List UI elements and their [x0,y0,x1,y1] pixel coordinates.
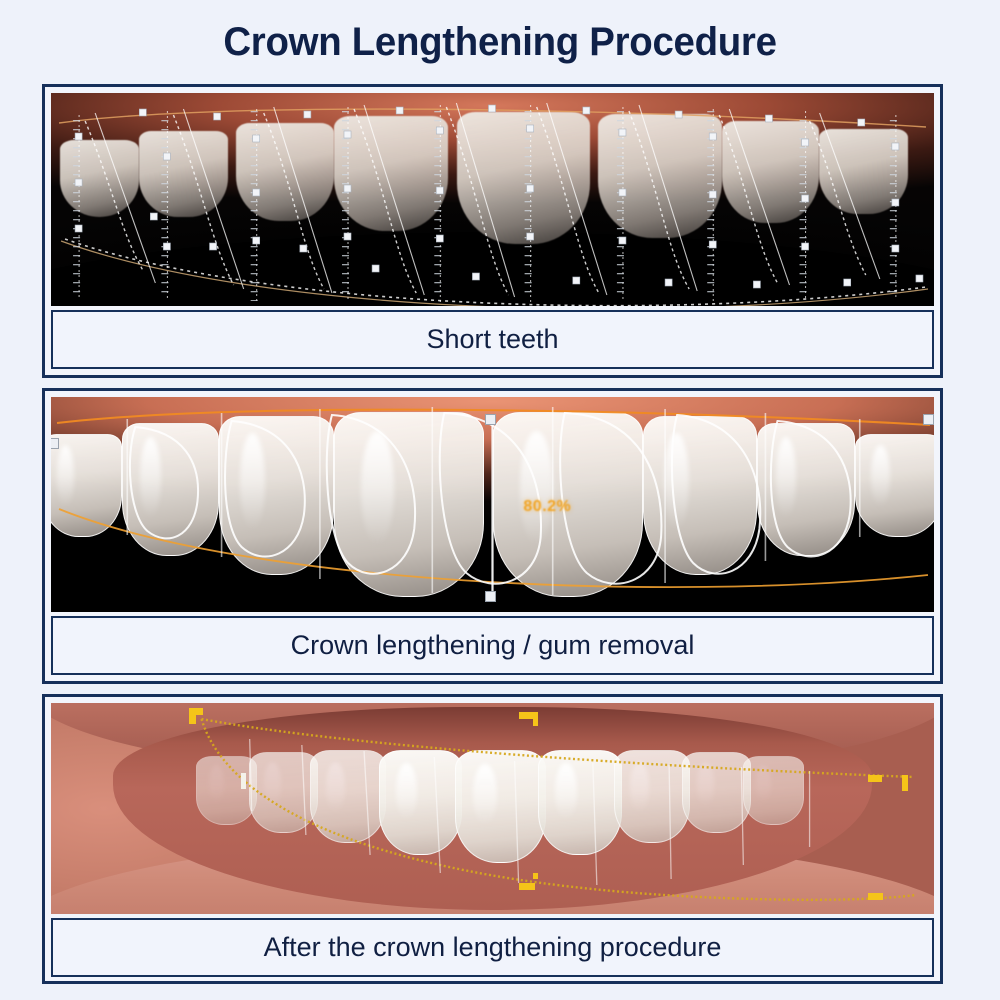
tooth [379,750,463,855]
tooth [598,114,722,238]
corner-marker-bottom-right[interactable] [868,893,883,900]
tooth [643,416,758,575]
tooth [334,412,484,597]
tooth-highlight-marker [241,773,246,789]
corner-marker-top-left-stem[interactable] [189,708,196,724]
tooth [455,750,546,863]
tooth [219,416,334,575]
tooth [310,750,386,843]
page-title: Crown Lengthening Procedure [20,20,980,65]
tooth [457,112,589,244]
tooth [236,123,333,221]
tooth [139,131,227,216]
panel-caption: After the crown lengthening procedure [51,918,934,977]
tooth [196,756,257,825]
midline-marker-bottom-stem[interactable] [533,873,538,879]
photo-short-teeth [51,93,934,306]
panel-caption: Crown lengthening / gum removal [51,616,934,675]
tooth [538,750,622,855]
tooth [249,752,317,833]
corner-marker-right-stem[interactable] [902,775,908,791]
corner-marker-right[interactable] [868,775,882,782]
procedure-panel-after: After the crown lengthening procedure [42,694,943,984]
tooth [722,121,819,223]
tooth [334,116,449,231]
tooth [614,750,690,843]
photo-gum-removal: 80.2% [51,397,934,612]
panel-caption: Short teeth [51,310,934,369]
arc-handle-left[interactable] [51,438,59,449]
midline-marker-top-stem[interactable] [533,712,538,726]
midline-handle-bottom[interactable] [485,591,496,602]
proportion-label: 80.2% [523,498,571,516]
midline-handle-top[interactable] [485,414,496,425]
tooth [60,140,139,217]
tooth [51,434,122,537]
tooth [757,423,854,556]
photo-after-procedure [51,703,934,914]
tooth [819,129,907,214]
tooth [122,423,219,556]
tooth [682,752,750,833]
arc-handle-right[interactable] [923,414,934,425]
tooth [855,434,934,537]
infographic-page: Crown Lengthening Procedure [0,0,1000,1000]
midline-marker-bottom[interactable] [519,883,535,890]
procedure-panel-during: 80.2% Crown lengthening / gum removal [42,388,943,684]
tooth [743,756,804,825]
procedure-panel-before: Short teeth [42,84,943,378]
